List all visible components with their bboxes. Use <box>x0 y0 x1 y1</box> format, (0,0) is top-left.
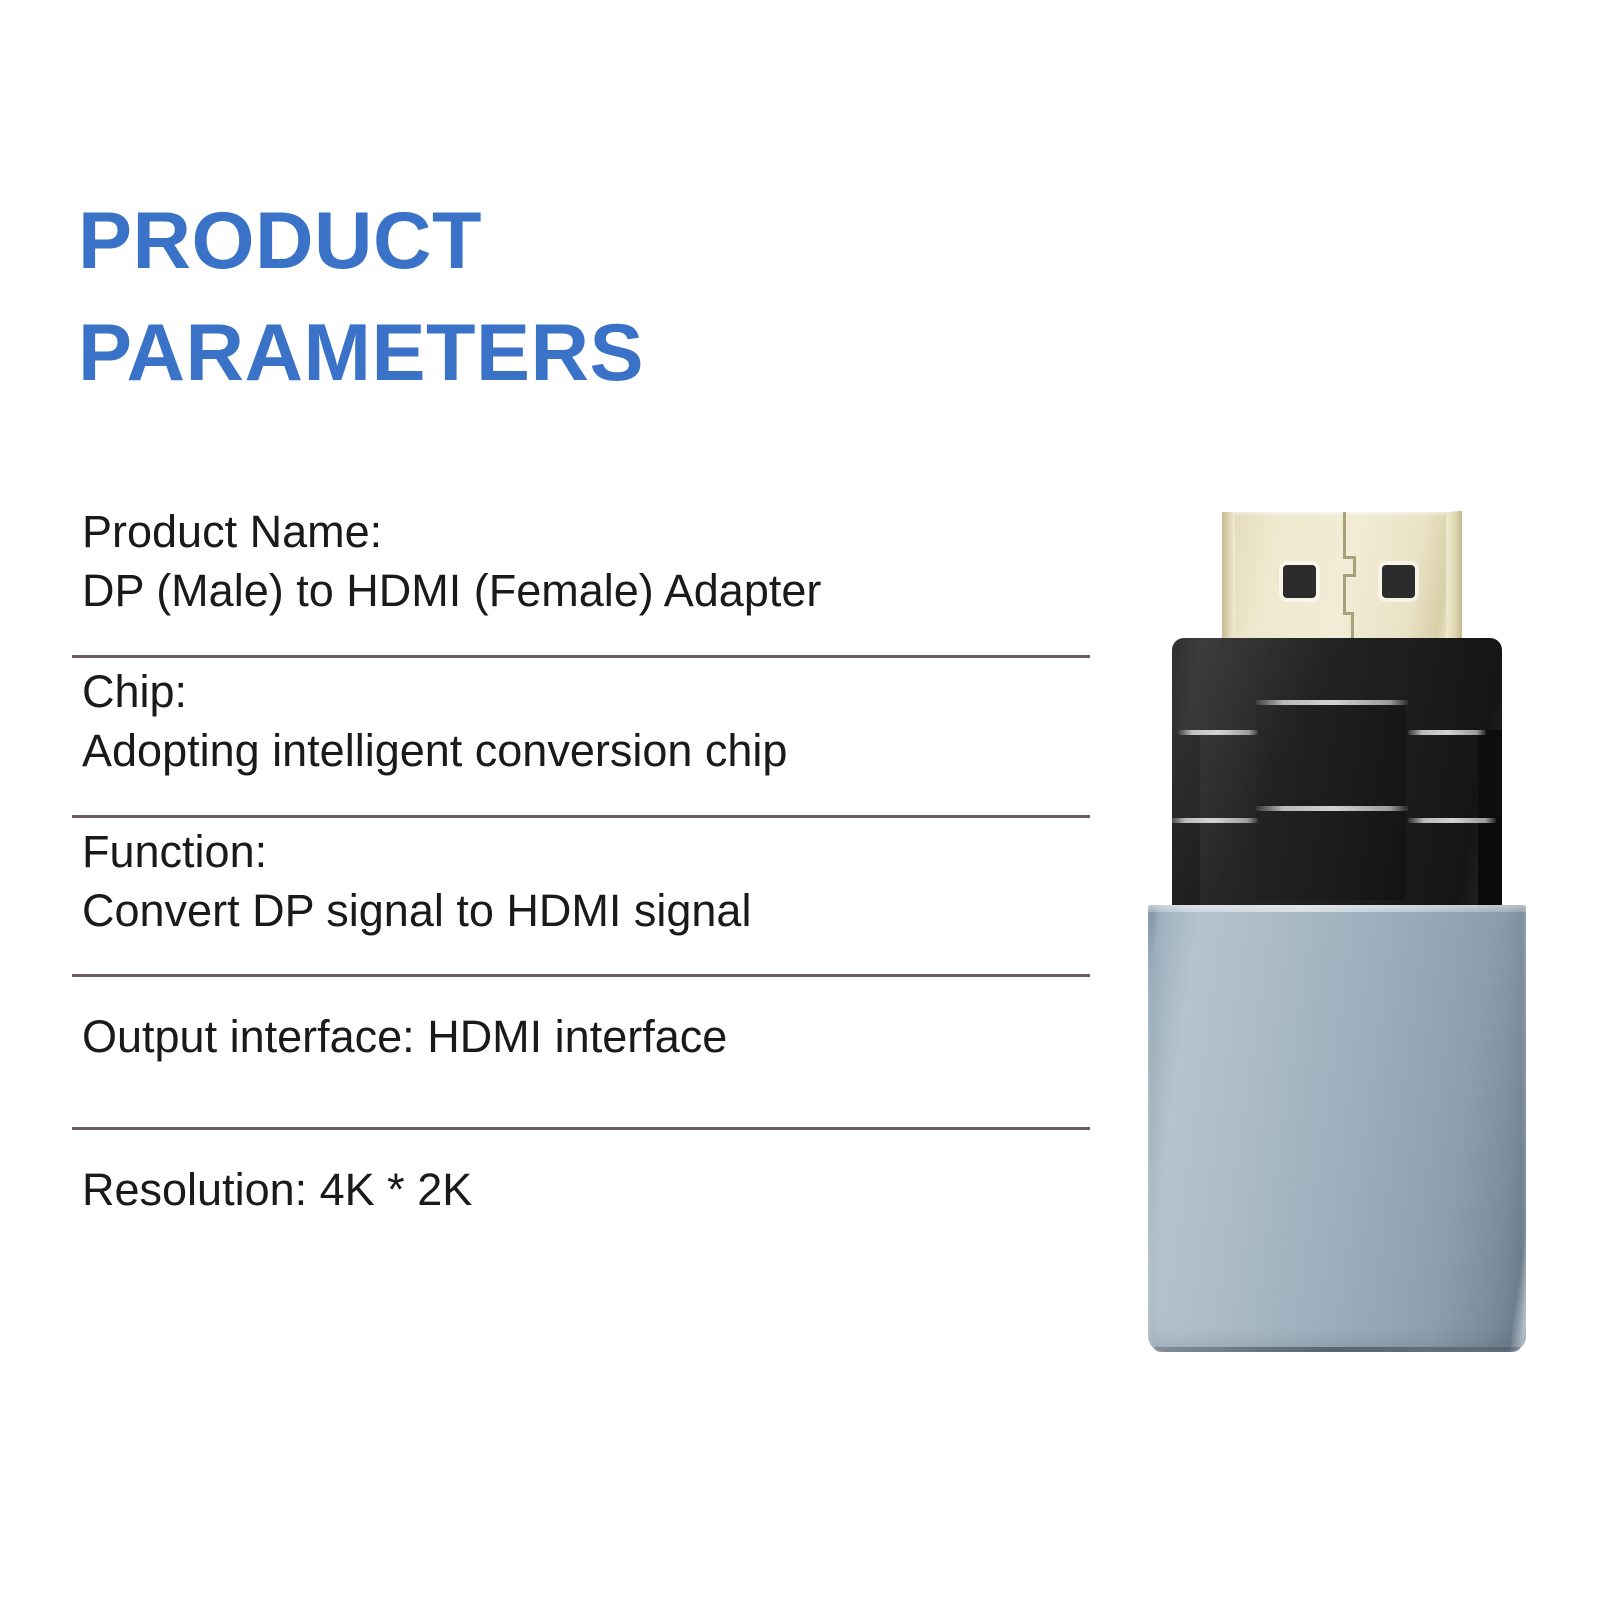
plug-left-bevel <box>1222 512 1235 640</box>
spec-label-chip: Chip: <box>82 662 1092 721</box>
spec-row-resolution: Resolution: 4K * 2K <box>72 1130 1092 1219</box>
spec-list: Product Name: DP (Male) to HDMI (Female)… <box>72 498 1092 1219</box>
spec-label-function: Function: <box>82 822 1092 881</box>
spec-row-chip: Chip: Adopting intelligent conversion ch… <box>72 658 1092 818</box>
housing-groove-center-2 <box>1256 806 1408 811</box>
housing-groove-left-2 <box>1172 818 1258 823</box>
spec-value-function: Convert DP signal to HDMI signal <box>82 881 1092 940</box>
housing-groove-left-1 <box>1178 730 1258 735</box>
spec-value-product-name: DP (Male) to HDMI (Female) Adapter <box>82 561 1092 620</box>
housing-step-left-1 <box>1172 730 1200 820</box>
spec-row-product-name: Product Name: DP (Male) to HDMI (Female)… <box>72 498 1092 658</box>
page-title: PRODUCT PARAMETERS <box>78 186 898 410</box>
product-parameters-page: PRODUCT PARAMETERS Product Name: DP (Mal… <box>0 0 1600 1600</box>
plug-contact-right <box>1382 565 1415 598</box>
spec-value-chip: Adopting intelligent conversion chip <box>82 721 1092 780</box>
dp-to-hdmi-adapter-photo <box>1120 470 1550 1370</box>
housing-step-left-2 <box>1172 818 1200 910</box>
black-ridged-housing <box>1172 638 1502 910</box>
gold-dp-connector-icon <box>1222 512 1462 640</box>
silver-blue-hdmi-shell <box>1148 905 1526 1352</box>
housing-groove-right-2 <box>1408 818 1496 823</box>
housing-step-right-2 <box>1478 818 1502 910</box>
housing-groove-center-1 <box>1256 700 1408 705</box>
housing-groove-right-1 <box>1408 730 1486 735</box>
spec-row-output-interface: Output interface: HDMI interface <box>72 977 1092 1129</box>
plug-right-bevel <box>1446 511 1462 640</box>
spec-label-output-interface: Output interface: HDMI interface <box>82 1007 1092 1066</box>
shell-bottom-edge <box>1154 1347 1520 1352</box>
shell-top-edge <box>1148 905 1526 912</box>
housing-step-right-1 <box>1478 730 1502 820</box>
spec-label-product-name: Product Name: <box>82 502 1092 561</box>
housing-center-plate <box>1256 700 1406 900</box>
spec-label-resolution: Resolution: 4K * 2K <box>82 1160 1092 1219</box>
plug-center-notch <box>1338 512 1360 640</box>
plug-contact-left <box>1283 565 1316 598</box>
spec-row-function: Function: Convert DP signal to HDMI sign… <box>72 818 1092 978</box>
